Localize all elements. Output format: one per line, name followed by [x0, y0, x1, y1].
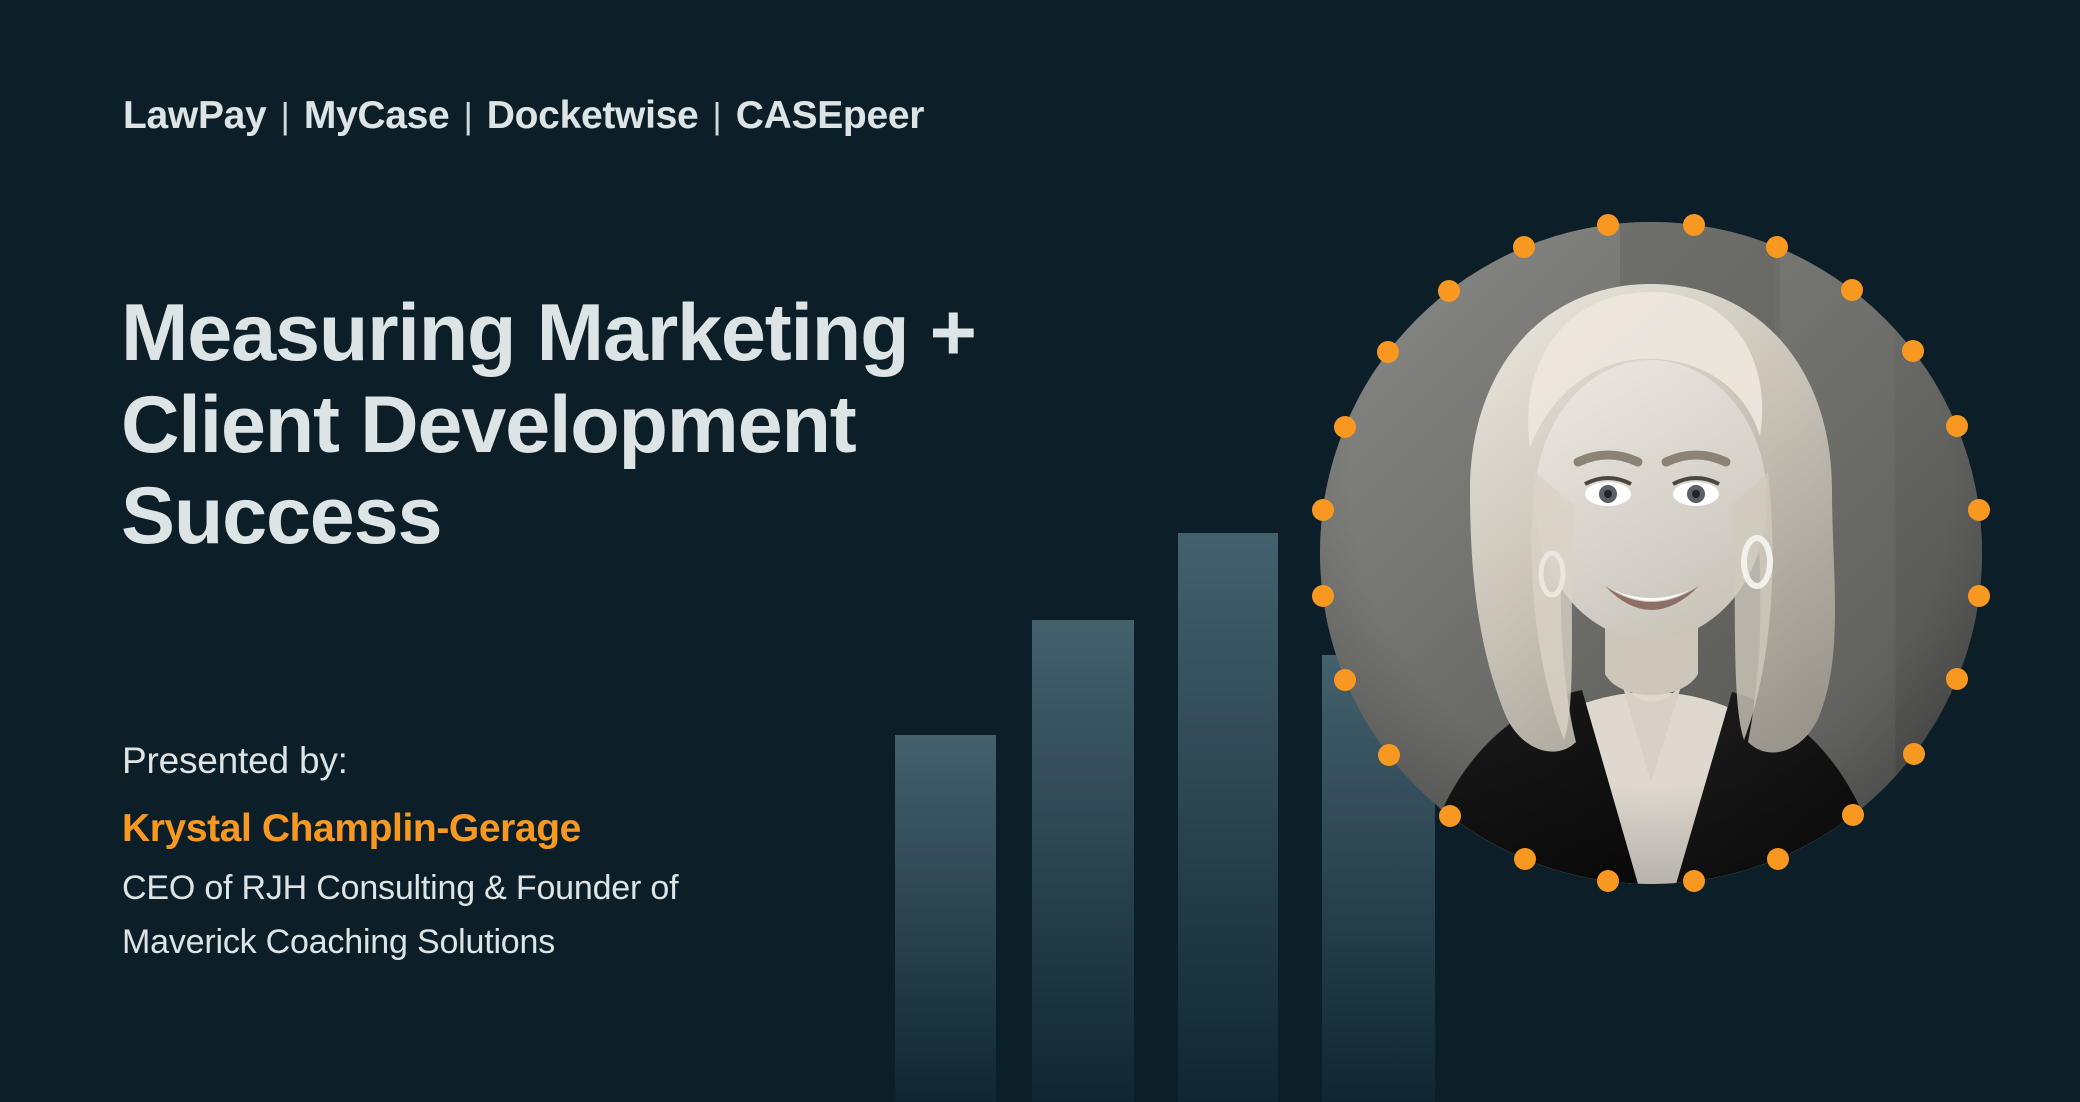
headshot-accent-dot: [1683, 870, 1705, 892]
headshot-accent-dot: [1683, 214, 1705, 236]
headshot-accent-dot: [1439, 805, 1461, 827]
headshot-accent-dot: [1968, 499, 1990, 521]
presentation-slide: LawPay|MyCase|Docketwise|CASEpeer Measur…: [0, 0, 2080, 1102]
headshot-accent-dot: [1842, 804, 1864, 826]
presented-by-label: Presented by:: [122, 738, 1022, 784]
headshot-accent-dot: [1597, 214, 1619, 236]
headshot-circle-clip: [1320, 222, 1982, 884]
headshot-accent-dot: [1903, 743, 1925, 765]
brand-separator: |: [449, 98, 486, 134]
headshot-accent-dot: [1767, 848, 1789, 870]
title-line-1: Measuring Marketing +: [121, 288, 1301, 380]
headshot-accent-dot: [1312, 499, 1334, 521]
headshot-accent-dot: [1378, 744, 1400, 766]
presenter-headshot: [1320, 222, 1982, 884]
brand-separator: |: [698, 98, 735, 134]
headshot-accent-dot: [1968, 585, 1990, 607]
title-line-3: Success: [121, 471, 1301, 563]
chart-bar-3: [1178, 533, 1278, 1102]
brand-casepeer: CASEpeer: [736, 96, 924, 135]
presenter-role-line-2: Maverick Coaching Solutions: [122, 916, 1022, 970]
presenter-block: Presented by: Krystal Champlin-Gerage CE…: [122, 738, 1022, 969]
brand-separator: |: [266, 98, 303, 134]
headshot-accent-dot: [1377, 341, 1399, 363]
headshot-accent-dot: [1597, 870, 1619, 892]
brand-docketwise: Docketwise: [487, 96, 699, 135]
headshot-accent-dot: [1438, 280, 1460, 302]
presenter-role-line-1: CEO of RJH Consulting & Founder of: [122, 862, 1022, 916]
headshot-accent-dot: [1514, 848, 1536, 870]
presenter-role-lines: CEO of RJH Consulting & Founder ofMaveri…: [122, 862, 1022, 969]
brand-mycase: MyCase: [304, 96, 450, 135]
title-line-2: Client Development: [121, 380, 1301, 472]
brand-lawpay: LawPay: [123, 96, 266, 135]
presenter-name: Krystal Champlin-Gerage: [122, 805, 1022, 853]
brand-bar: LawPay|MyCase|Docketwise|CASEpeer: [123, 96, 924, 135]
headshot-accent-dot: [1334, 416, 1356, 438]
headshot-accent-dot: [1946, 415, 1968, 437]
chart-bar-2: [1032, 620, 1134, 1102]
presenter-photo: [1320, 222, 1982, 884]
page-title: Measuring Marketing +Client DevelopmentS…: [121, 288, 1301, 563]
